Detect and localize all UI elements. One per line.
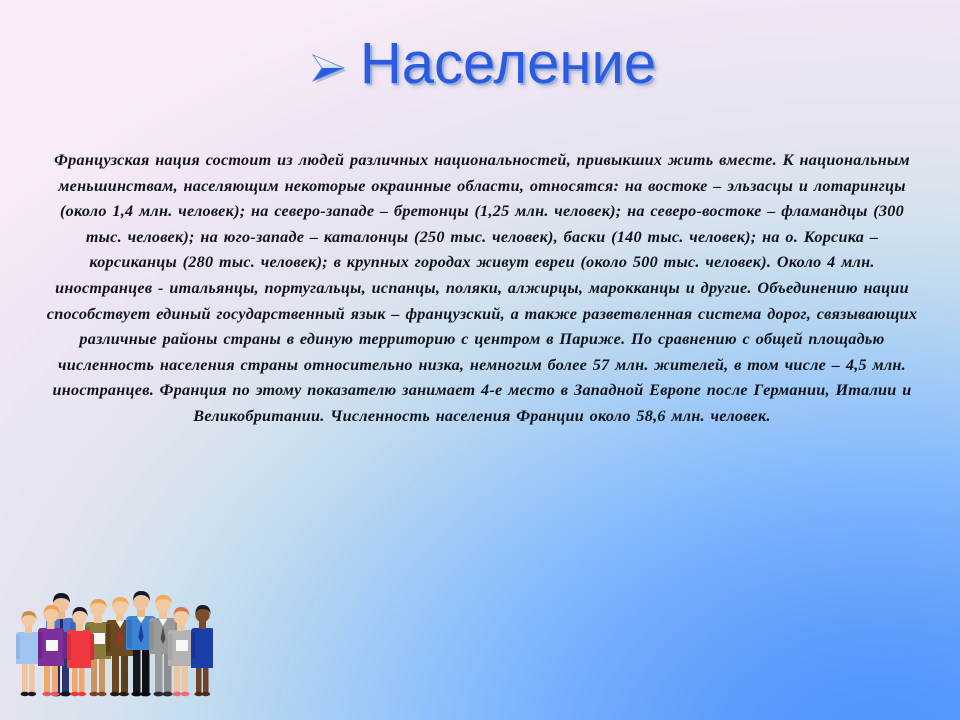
arrow-bullet-icon — [304, 44, 350, 90]
clipart-figures — [16, 591, 213, 696]
page-title: Население — [360, 34, 656, 93]
body-text-block: Французская нация состоит из людей разли… — [46, 148, 918, 430]
slide-title-row: Население — [0, 34, 960, 93]
figure-woman-royal-blue-dress — [191, 605, 213, 696]
body-paragraph: Французская нация состоит из людей разли… — [46, 148, 918, 430]
group-of-people-clipart — [8, 578, 213, 710]
slide-canvas: Население Французская нация состоит из л… — [0, 0, 960, 720]
